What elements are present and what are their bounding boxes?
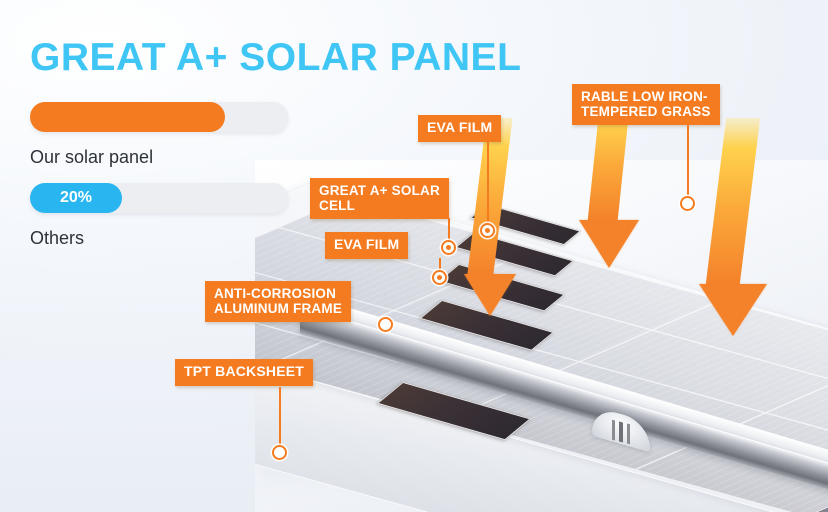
progress-track-others: 20% xyxy=(30,183,288,213)
progress-label-our-solar-panel: Our solar panel xyxy=(30,147,153,168)
callout-marker-great-a-solar-cell[interactable] xyxy=(441,240,456,255)
callout-leader-tpt-backsheet xyxy=(279,387,281,451)
callout-eva-film-upper[interactable]: EVA FILM xyxy=(418,115,501,142)
sunlight-arrow xyxy=(690,118,776,336)
page-title: GREAT A+ SOLAR PANEL xyxy=(30,36,521,80)
callout-marker-tpt-backsheet[interactable] xyxy=(272,445,287,460)
poster-canvas: GREAT A+ SOLAR PANEL Our solar panel 20%… xyxy=(0,0,828,512)
progress-fill-our-solar-panel xyxy=(30,102,225,132)
callout-marker-eva-film-upper[interactable] xyxy=(480,223,495,238)
callout-marker-anti-corrosion-frame[interactable] xyxy=(378,317,393,332)
callout-marker-durable-low-iron-glass[interactable] xyxy=(680,196,695,211)
sunlight-arrow xyxy=(456,118,524,316)
callout-tpt-backsheet[interactable]: TPT BACKSHEET xyxy=(175,359,313,386)
callout-eva-film-lower[interactable]: EVA FILM xyxy=(325,232,408,259)
callout-leader-durable-low-iron-glass xyxy=(687,122,689,204)
callout-leader-eva-film-upper xyxy=(487,141,489,227)
progress-fill-others: 20% xyxy=(30,183,122,213)
callout-marker-eva-film-lower[interactable] xyxy=(432,270,447,285)
progress-track-our-solar-panel xyxy=(30,102,288,132)
callout-anti-corrosion-frame[interactable]: ANTI-CORROSION ALUMINUM FRAME xyxy=(205,281,351,322)
callout-great-a-solar-cell[interactable]: GREAT A+ SOLAR CELL xyxy=(310,178,449,219)
progress-label-others: Others xyxy=(30,228,84,249)
progress-value-others: 20% xyxy=(60,189,92,207)
callout-durable-low-iron-glass[interactable]: RABLE LOW IRON- TEMPERED GRASS xyxy=(572,84,720,125)
